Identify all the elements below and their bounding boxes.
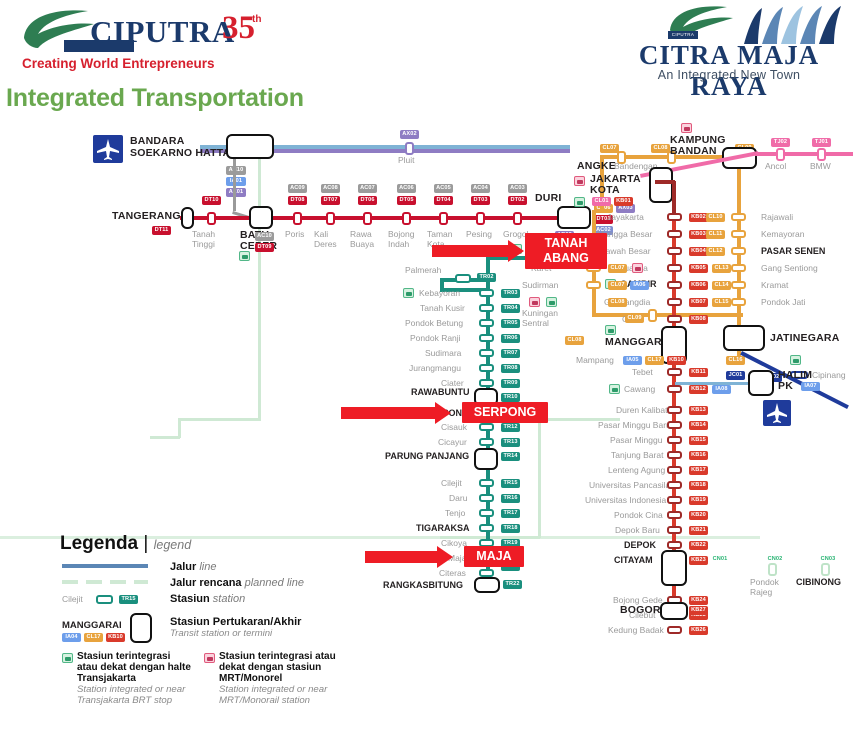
legend-swatch-planned-line [62,580,148,584]
ciputra-anniversary-suffix: th [252,14,261,25]
mrt-icon-karet [632,263,643,273]
station-code-AC08: AC08 [321,184,340,193]
legend-label-stasiun-pertukaran-italic: Transit station or termini [170,629,272,640]
station-node-grogol[interactable] [513,212,522,225]
station-node-kebayoran[interactable] [479,289,494,297]
station-code-CL08-mampang: CL08 [565,336,584,345]
callout-arrow-maja [365,546,453,568]
station-node-universitas-pancasila[interactable] [667,481,682,489]
station-label-poris: Poris [285,230,304,240]
station-code-TR13: TR13 [501,438,520,447]
station-node-daru[interactable] [479,494,494,502]
station-label-universitas-pancasila: Universitas Pancasila [589,481,670,491]
station-code-CL07-angke: CL07 [600,144,619,153]
station-node-pondok-jati[interactable] [731,298,746,306]
slide-header: CIPUTRA 35 th Creating World Entrepreneu… [0,0,853,82]
station-node-pluit[interactable] [405,142,414,155]
bus-icon-jatinegara [790,355,801,365]
citra-maja-raya-logo: CIPUTRA CITRA MAJA RAYA An Integrated Ne… [610,2,848,80]
station-code-TR17: TR17 [501,509,520,518]
station-code-AC07: AC07 [358,184,377,193]
station-code-DT02: DT02 [508,196,527,205]
legend-terminus-code-IA04: IA04 [62,633,81,642]
mrt-icon-kuningan-sentral [529,297,540,307]
callout-tanah-abang: TANAH ABANG [525,233,607,269]
station-label-pasar-minggu: Pasar Minggu [610,436,662,446]
station-label-pesing: Pesing [466,230,492,240]
station-node-lenteng-agung[interactable] [667,466,682,474]
station-node-mangga-besar[interactable] [667,230,682,238]
station-code-IA07: IA07 [801,382,820,391]
station-code-TR15: TR15 [501,479,520,488]
station-label-kebayoran: Kebayoran [419,289,460,299]
legend-label-jalur-rencana-text: Jalur rencana [170,577,242,589]
station-label-tenjo: Tenjo [445,509,465,519]
station-code-KB23: KB23 [689,556,708,565]
station-label-depok-baru: Depok Baru [615,526,660,536]
station-node-tanjung-barat[interactable] [667,451,682,459]
station-node-juanda[interactable] [667,264,682,272]
station-label-daru: Daru [449,494,467,504]
station-code-TR12: TR12 [501,423,520,432]
station-label-lenteng-agung: Lenteng Agung [608,466,665,476]
station-label-duren-kalibata: Duren Kalibata [616,406,672,416]
terminus-node-halim[interactable] [748,370,774,396]
station-code-DT04: DT04 [434,196,453,205]
planned-line-south-west [150,436,180,439]
station-node-depok-baru[interactable] [667,526,682,534]
station-node-sudirman[interactable] [586,281,601,289]
station-node-jayakarta[interactable] [667,213,682,221]
station-label-rangkasbitung: RANGKASBITUNG [383,581,463,591]
station-node-pondok-cina[interactable] [667,511,682,519]
page-title: Integrated Transportation [6,84,304,113]
station-node-kemayoran[interactable] [731,230,746,238]
station-code-IA06: IA06 [630,281,649,290]
station-code-TR04: TR04 [501,304,520,313]
planned-line-curve-left [178,418,260,421]
station-node-pasar-minggu[interactable] [667,436,682,444]
station-label-cisauk: Cisauk [441,423,467,433]
station-node-cawang[interactable] [667,385,682,393]
tanjungpriok-line [755,152,853,156]
station-code-TR02: TR02 [477,273,496,282]
station-code-KB10: KB10 [667,356,686,365]
station-label-tanjung-barat: Tanjung Barat [611,451,663,461]
station-code-KB19: KB19 [689,496,708,505]
station-code-JC01: JC01 [726,371,745,380]
station-code-CL13-juanda: CL13 [712,264,731,273]
station-node-universitas-indonesia[interactable] [667,496,682,504]
station-code-TR22: TR22 [503,580,522,589]
station-node-gondangdia[interactable] [667,298,682,306]
station-node-kramat[interactable] [731,281,746,289]
legend-label-jalur-italic: line [199,561,216,573]
station-code-CN01: CN01 [710,555,730,564]
station-code-TJ02: TJ02 [771,138,790,147]
station-label-jurangmangu: Jurangmangu [409,364,461,374]
station-code-KB05: KB05 [689,264,708,273]
station-label-parung-panjang: PARUNG PANJANG [385,452,469,462]
station-node-taman-kota[interactable] [439,212,448,225]
planned-line-east-vertical [538,418,541,538]
ciputra-wordmark: CIPUTRA [90,14,235,50]
station-code-CL10: CL10 [706,213,725,222]
station-node-cicayur[interactable] [479,438,494,446]
terminus-node-batu-ceper[interactable] [249,206,273,229]
station-code-KB26: KB26 [689,626,708,635]
station-label-cicayur: Cicayur [438,438,467,448]
station-node-citeras[interactable] [479,569,494,577]
legend-label-jalur-text: Jalur [170,561,196,573]
station-code-TR09: TR09 [501,379,520,388]
station-code-KB27: KB27 [689,606,708,615]
station-node-tigaraksa[interactable] [479,524,494,532]
station-code-DT06: DT06 [358,196,377,205]
station-node-pondok-rajeg[interactable] [768,563,777,576]
terminus-label-bandara-soekarno-hatta: BANDARASOEKARNO HATTA [130,136,230,159]
station-label-pondok-betung: Pondok Betung [405,319,463,329]
legend-label-stasiun-italic: station [213,593,245,605]
bus-icon-jakarta-kota [574,197,585,207]
station-code-CL12: CL12 [706,247,725,256]
station-code-TR03: TR03 [501,289,520,298]
station-label-jatinegara: JATINEGARA [770,334,839,344]
legend-label-jalur-rencana-italic: planned line [245,577,304,589]
station-node-cisauk[interactable] [479,423,494,431]
station-node-mampang[interactable] [648,309,657,322]
callout-arrow-tanah-abang [432,240,524,262]
station-code-DT09: DT09 [255,243,274,252]
station-code-CL15: CL15 [712,298,731,307]
station-code-KB07: KB07 [689,298,708,307]
station-label-palmerah: Palmerah [405,266,441,276]
station-node-tenjo[interactable] [479,509,494,517]
legend-panel: Legenda | legend Jalur line Jalur rencan… [60,533,350,733]
station-node-kali-deres[interactable] [326,212,335,225]
legend-sample-station-name: Cilejit [62,595,83,605]
station-code-KB01: KB01 [614,197,633,206]
legend-title-italic: legend [154,538,192,552]
station-code-TR16: TR16 [501,494,520,503]
planned-line-vertical-west [258,136,261,421]
station-node-bmw[interactable] [817,148,826,161]
airport-icon-soekarno-hatta [93,135,123,163]
station-label-universitas-indonesia: Universitas Indonesia [585,496,666,506]
mrt-icon-legend [204,653,215,663]
bus-icon-cawang [609,384,620,394]
station-label-kramat: Kramat [761,281,788,291]
station-label-duri: DURI [535,194,561,204]
station-node-bojong-indah[interactable] [402,212,411,225]
legend-note-mrt-italic: Station integrated or near MRT/Monorail … [219,685,343,706]
station-label-jakarta-kota: JAKARTAKOTA [590,174,641,196]
legend-label-stasiun-text: Stasiun [170,593,210,605]
station-code-TR14: TR14 [501,452,520,461]
station-node-tanah-tinggi[interactable] [207,212,216,225]
legend-note-mrt-bold: Stasiun terintegrasi atau dekat dengan s… [219,651,343,684]
cmr-badge: CIPUTRA [668,31,698,39]
callout-maja-text: MAJA [476,549,511,563]
bus-icon-manggarai [605,325,616,335]
station-code-KB14: KB14 [689,421,708,430]
station-code-KB21: KB21 [689,526,708,535]
station-label-depok: DEPOK [624,541,656,551]
station-label-bmw: BMW [810,162,831,172]
legend-title-text: Legenda [60,533,138,554]
station-code-KB24: KB24 [689,596,708,605]
legend-note-bus-bold: Stasiun terintegrasi atau dekat dengan h… [77,651,193,684]
legend-note-bus-italic: Station integrated or near Transjakarta … [77,685,193,706]
airport-icon-halim [763,400,791,426]
station-code-CL07b: CL07 [608,281,627,290]
mrt-icon-kampung-bandan [681,123,692,133]
station-code-AX02: AX02 [400,130,419,139]
station-node-pondok-betung[interactable] [479,319,494,327]
station-code-CL09b: CL09 [625,314,644,323]
cmr-subtitle: An Integrated New Town [610,68,848,82]
terminus-node-tangerang[interactable] [181,207,194,229]
station-label-mampang: Mampang [576,356,614,366]
terminus-node-jatinegara[interactable] [723,325,765,351]
station-node-pesing[interactable] [476,212,485,225]
station-code-CL08b: CL08 [608,298,627,307]
station-code-CL07-karet: CL07 [608,264,627,273]
station-code-CL16: CL16 [726,356,745,365]
station-label-kampung-bandan: KAMPUNGBANDAN [670,135,726,157]
bus-icon-batu-ceper [239,251,250,261]
station-code-KB11: KB11 [689,368,708,377]
legend-swatch-station-pill[interactable] [96,595,113,604]
station-code-TR06: TR06 [501,334,520,343]
station-label-cibinong: CIBINONG [796,578,841,588]
station-node-sawah-besar[interactable] [667,247,682,255]
legend-label-jalur-rencana: Jalur rencana planned line [170,577,304,589]
station-code-IA01: IA01 [226,177,246,186]
station-node-jurangmangu[interactable] [479,364,494,372]
station-node-rawa-buaya[interactable] [363,212,372,225]
station-node-palmerah[interactable] [455,274,471,283]
station-code-TR18: TR18 [501,524,520,533]
station-code-AC05: AC05 [434,184,453,193]
station-node-cilejit[interactable] [479,479,494,487]
legend-sample-station-code: TR15 [119,595,138,604]
bus-icon-legend [62,653,73,663]
station-label-sawah-besar: Sawah Besar [600,247,651,257]
tangerang-line [180,216,565,220]
station-label-sudimara: Sudimara [425,349,461,359]
callout-tanah-abang-line2: ABANG [543,251,589,265]
station-node-duren-kalibata[interactable] [667,406,682,414]
callout-arrow-serpong [341,402,451,424]
terminus-node-duri[interactable] [557,206,591,229]
legend-title: Legenda | legend [60,533,191,555]
station-code-IA08: IA08 [712,385,731,394]
station-label-kemayoran: Kemayoran [761,230,804,240]
station-code-KB18: KB18 [689,481,708,490]
station-label-pondok-ranji: Pondok Ranji [410,334,461,344]
station-code-CL11: CL11 [706,230,725,239]
station-label-pondok-jati: Pondok Jati [761,298,805,308]
station-code-CL17: CL17 [645,356,664,365]
station-label-pasar-minggu-baru: Pasar Minggu Baru [598,421,671,431]
station-label-pondok-rajeg: PondokRajeg [750,578,779,597]
station-node-pasar-senen[interactable] [731,247,746,255]
station-code-TR05: TR05 [501,319,520,328]
connector-bandara-batuceper-v [233,159,236,211]
cmr-badge-text: CIPUTRA [668,31,698,39]
station-node-cibinong[interactable] [821,563,830,576]
bus-icon-kebayoran [403,288,414,298]
station-label-tanah-kusir: Tanah Kusir [420,304,465,314]
station-label-gang-sentiong: Gang Sentiong [761,264,818,274]
legend-terminus-code-KB10: KB10 [106,633,125,642]
station-node-pasar-minggu-baru[interactable] [667,421,682,429]
callout-tanah-abang-line1: TANAH [545,236,588,250]
ciputra-tagline: Creating World Entrepreneurs [22,56,215,71]
legend-swatch-solid-line [62,564,148,568]
station-label-kali-deres: KaliDeres [314,230,337,249]
station-label-cilejit: Cilejit [441,479,462,489]
cmr-wave-icon [740,6,850,44]
terminus-node-citayam[interactable] [661,550,687,586]
station-code-KB20: KB20 [689,511,708,520]
station-label-pasar-senen: PASAR SENEN [761,247,825,257]
station-node-kedung-badak[interactable] [667,626,682,634]
station-label-bogor-terminus: BOGOR [620,606,661,616]
station-node-sudimara[interactable] [479,349,494,357]
station-node-ancol[interactable] [776,148,785,161]
station-node-depok[interactable] [667,541,682,549]
station-code-CL14: CL14 [712,281,731,290]
terminus-node-parung-panjang[interactable] [474,448,498,470]
station-label-tigaraksa: TIGARAKSA [416,524,470,534]
legend-label-stasiun: Stasiun station [170,593,245,605]
transit-map: AX02 Pluit BANDARASOEKARNO HATTA AC10 IA… [0,118,853,626]
station-node-gambir[interactable] [667,281,682,289]
planned-line-west-stub [178,418,181,438]
terminus-node-bogor[interactable] [660,602,688,620]
station-code-AC04: AC04 [471,184,490,193]
legend-terminus-code-CL17: CL17 [84,633,103,642]
station-label-cipinang: Cipinang [812,371,846,381]
ciputra-logo: CIPUTRA 35 th Creating World Entrepreneu… [12,6,262,76]
station-label-citeras: Citeras [439,569,466,579]
station-code-TR07: TR07 [501,349,520,358]
mrt-icon-jakarta-kota [574,176,585,186]
station-code-KB12: KB12 [689,385,708,394]
station-label-citayam: CITAYAM [614,556,653,566]
station-code-KB08: KB08 [689,315,708,324]
terminus-label-tangerang: TANGERANG [112,212,181,222]
station-label-rawabuntu: RAWABUNTU [411,388,470,398]
station-code-TJ01: TJ01 [812,138,831,147]
legend-label-stasiun-pertukaran: Stasiun Pertukaran/Akhir [170,616,301,628]
callout-serpong-text: SERPONG [474,405,537,419]
station-label-ancol: Ancol [765,162,786,172]
station-node-tebet[interactable] [667,368,682,376]
legend-label-jalur: Jalur line [170,561,216,573]
bus-icon-kuningan-sentral [546,297,557,307]
station-code-AX01: AX01 [226,188,246,197]
station-label-jayakarta: Jayakarta [607,213,644,223]
station-code-KB13: KB13 [689,406,708,415]
station-code-KB15: KB15 [689,436,708,445]
station-code-KB16: KB16 [689,451,708,460]
legend-swatch-terminus-box[interactable] [130,613,152,643]
station-node-poris[interactable] [293,212,302,225]
station-code-AC03: AC03 [508,184,527,193]
station-label-pluit: Pluit [398,156,415,166]
station-code-AC09: AC09 [288,184,307,193]
terminus-node-jakarta-kota[interactable] [649,167,673,203]
station-label-tanah-tinggi: TanahTinggi [192,230,215,249]
station-code-AC10-batuceper: AC10 [255,232,274,241]
ciputra-anniversary: 35 [222,10,255,47]
station-code-TR10: TR10 [501,393,520,402]
station-node-pondok-ranji[interactable] [479,334,494,342]
station-code-KB06: KB06 [689,281,708,290]
callout-serpong: SERPONG [462,402,548,423]
station-node-gang-sentiong[interactable] [731,264,746,272]
station-label-rajawali: Rajawali [761,213,793,223]
station-node-cikini[interactable] [667,315,682,323]
station-code-KB17: KB17 [689,466,708,475]
station-code-CL01: CL01 [592,197,611,206]
station-label-tebet: Tebet [632,368,653,378]
terminus-node-bandara-soekarno-hatta[interactable] [226,134,274,159]
station-code-DT11: DT11 [152,226,171,235]
station-code-DT03: DT03 [471,196,490,205]
station-label-pondok-cina: Pondok Cina [614,511,663,521]
station-label-kuningan-sentral: KuninganSentral [522,309,558,328]
station-code-DT05: DT05 [397,196,416,205]
station-label-sudirman: Sudirman [522,281,558,291]
terminus-node-rangkasbitung[interactable] [474,577,500,593]
station-node-rajawali[interactable] [731,213,746,221]
station-code-KB22: KB22 [689,541,708,550]
station-code-DT10: DT10 [202,196,221,205]
station-label-kedung-badak: Kedung Badak [608,626,664,636]
bogor-line-jk-link [655,180,675,184]
station-code-DT08: DT08 [288,196,307,205]
station-label-angke: ANGKE [577,162,616,172]
station-label-cawang: Cawang [624,385,655,395]
station-code-IA05: IA05 [623,356,642,365]
station-label-bojong-indah: BojongIndah [388,230,414,249]
station-label-rawa-buaya: RawaBuaya [350,230,374,249]
bogor-line-upper [672,181,676,215]
callout-maja: MAJA [464,546,524,567]
station-code-TR08: TR08 [501,364,520,373]
station-code-DT07: DT07 [321,196,340,205]
station-code-AC10: AC10 [226,166,246,175]
station-node-ciater[interactable] [479,379,494,387]
station-code-AC06: AC06 [397,184,416,193]
station-node-tanah-kusir[interactable] [479,304,494,312]
